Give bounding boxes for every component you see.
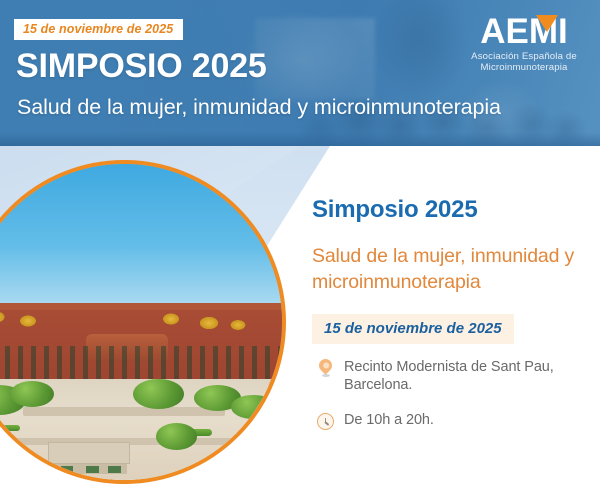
logo-mark: AEMI (460, 14, 588, 50)
plaza-tree-3 (133, 379, 184, 409)
event-time-text: De 10h a 20h. (344, 411, 434, 429)
event-title: Simposio 2025 (312, 198, 477, 222)
logo-tagline-line2: Microinmunoterapia (460, 62, 588, 73)
header-subtitle: Salud de la mujer, inmunidad y microinmu… (17, 97, 501, 119)
header-bottom-fade (0, 132, 600, 146)
plaza-tree-8 (238, 431, 279, 455)
header-date-badge: 15 de noviembre de 2025 (14, 19, 183, 40)
event-time-row: De 10h a 20h. (316, 411, 434, 433)
venue-photo (0, 164, 282, 480)
event-location-line1: Recinto Modernista de Sant Pau, (344, 359, 554, 375)
venue-building-row (0, 303, 282, 385)
header-banner: 15 de noviembre de 2025 SIMPOSIO 2025 Sa… (0, 0, 600, 146)
plaza-door-2 (86, 466, 99, 473)
event-info-panel: Simposio 2025 Salud de la mujer, inmunid… (308, 146, 600, 492)
plaza-tree-6 (156, 423, 197, 449)
venue-photo-circle (0, 160, 286, 484)
header-title: SIMPOSIO 2025 (16, 49, 267, 83)
plaza-platform (48, 442, 130, 464)
venue-plaza (0, 379, 282, 480)
plaza-tree-2 (10, 381, 54, 407)
logo-tagline: Asociación Española de Microinmunoterapi… (460, 51, 588, 74)
event-location-text: Recinto Modernista de Sant Pau, Barcelon… (344, 358, 554, 394)
plaza-shrub-1 (0, 425, 20, 431)
clock-icon (316, 411, 335, 433)
event-location-line2: Barcelona. (344, 377, 412, 393)
simposio-2025-poster: 15 de noviembre de 2025 SIMPOSIO 2025 Sa… (0, 0, 600, 492)
plaza-door-1 (61, 466, 74, 473)
plaza-tree-5 (231, 395, 275, 419)
aemi-logo[interactable]: AEMI Asociación Española de Microinmunot… (460, 14, 588, 74)
orange-triangle-icon (536, 15, 558, 32)
plaza-path-1 (23, 407, 225, 416)
plaza-door-3 (108, 466, 121, 473)
body-section: Simposio 2025 Salud de la mujer, inmunid… (0, 146, 600, 492)
map-pin-icon (316, 358, 335, 380)
event-subtitle: Salud de la mujer, inmunidad y microinmu… (312, 243, 597, 295)
event-date-badge: 15 de noviembre de 2025 (312, 314, 514, 344)
logo-tagline-line1: Asociación Española de (460, 51, 588, 62)
event-location-row: Recinto Modernista de Sant Pau, Barcelon… (316, 358, 554, 394)
